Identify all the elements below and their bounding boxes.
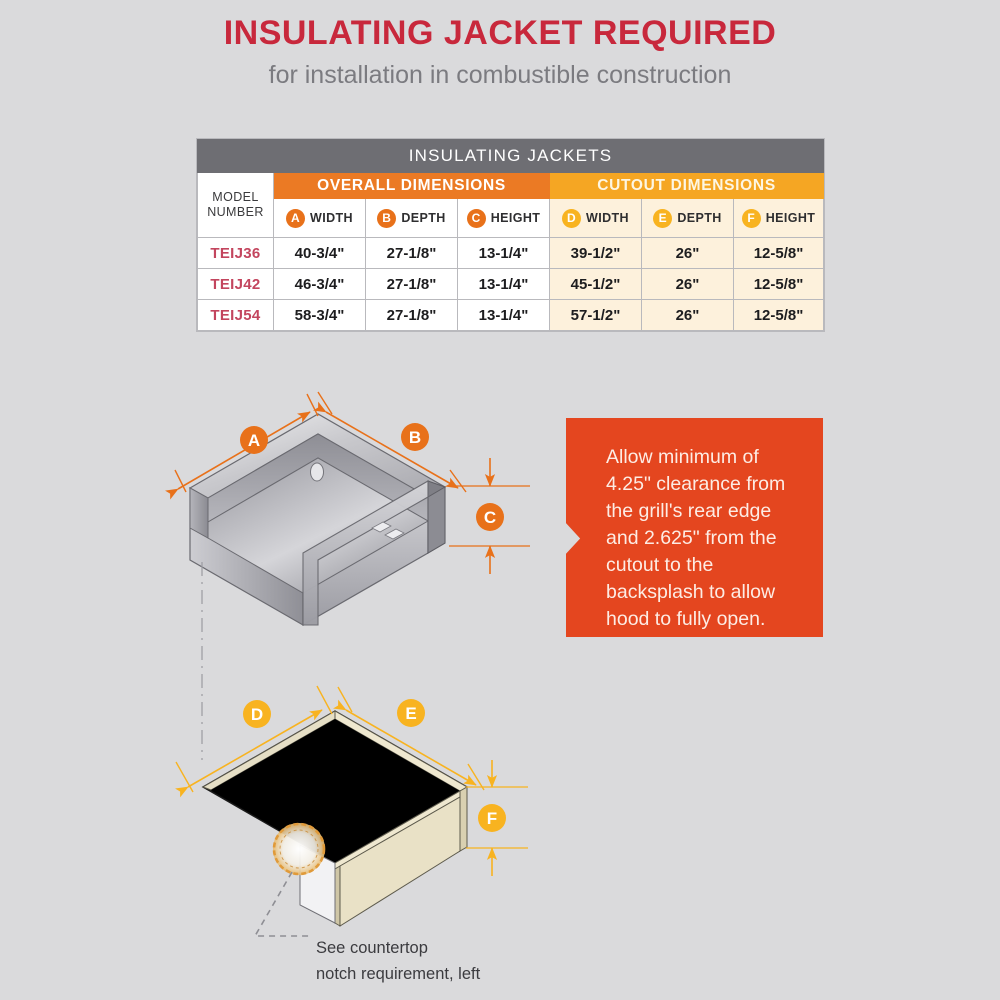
svg-text:F: F — [487, 809, 497, 828]
model-header-line2: NUMBER — [207, 205, 264, 219]
cell-overall-height: 13-1/4" — [458, 300, 550, 331]
column-header-e-depth: E DEPTH — [642, 199, 734, 238]
column-label-d: WIDTH — [586, 211, 629, 225]
svg-text:B: B — [409, 428, 421, 447]
badge-b-icon: B — [377, 209, 396, 228]
cell-overall-width: 58-3/4" — [274, 300, 366, 331]
badge-c-diagram-icon — [476, 503, 504, 531]
overall-dimensions-header: OVERALL DIMENSIONS — [274, 173, 550, 199]
svg-text:E: E — [405, 704, 416, 723]
clearance-callout: Allow minimum of 4.25" clearance from th… — [566, 418, 823, 637]
cutout-dimensions-header: CUTOUT DIMENSIONS — [550, 173, 824, 199]
column-label-a: WIDTH — [310, 211, 353, 225]
svg-text:A: A — [248, 431, 260, 450]
dimension-c: C — [449, 458, 530, 574]
badge-d-diagram-icon — [243, 700, 271, 728]
badge-f-icon: F — [742, 209, 761, 228]
footnote-leader-line — [255, 872, 310, 936]
column-header-f-height: F HEIGHT — [734, 199, 824, 238]
model-number-header: MODEL NUMBER — [198, 173, 274, 238]
cell-overall-depth: 27-1/8" — [366, 300, 458, 331]
column-header-a-width: A WIDTH — [274, 199, 366, 238]
badge-b-diagram-icon — [401, 423, 429, 451]
cell-cutout-width: 57-1/2" — [550, 300, 642, 331]
cell-model: TEIJ54 — [198, 300, 274, 331]
cell-cutout-depth: 26" — [642, 269, 734, 300]
table-caption-row: INSULATING JACKETS — [198, 140, 824, 173]
badge-f-diagram-icon — [478, 804, 506, 832]
badge-a-diagram-icon — [240, 426, 268, 454]
svg-text:D: D — [251, 705, 263, 724]
cell-cutout-width: 45-1/2" — [550, 269, 642, 300]
dimension-b: B — [318, 392, 466, 492]
infographic-page: INSULATING JACKET REQUIRED for installat… — [0, 0, 1000, 1000]
badge-c-icon: C — [467, 209, 486, 228]
column-label-f: HEIGHT — [766, 211, 816, 225]
page-subtitle: for installation in combustible construc… — [0, 58, 1000, 92]
table-subheader-row: A WIDTH B DEPTH C HEIGHT — [198, 199, 824, 238]
countertop-notch-footnote: See countertop notch requirement, left — [316, 935, 480, 987]
cell-cutout-height: 12-5/8" — [734, 269, 824, 300]
control-detail-icon — [372, 522, 404, 539]
table-row: TEIJ36 40-3/4" 27-1/8" 13-1/4" 39-1/2" 2… — [198, 238, 824, 269]
dimension-d: D — [176, 686, 332, 792]
cell-model: TEIJ42 — [198, 269, 274, 300]
cell-cutout-height: 12-5/8" — [734, 238, 824, 269]
model-header-line1: MODEL — [212, 190, 258, 204]
badge-e-icon: E — [653, 209, 672, 228]
cell-model: TEIJ36 — [198, 238, 274, 269]
page-title: INSULATING JACKET REQUIRED — [0, 12, 1000, 54]
cell-overall-height: 13-1/4" — [458, 269, 550, 300]
column-header-d-width: D WIDTH — [550, 199, 642, 238]
cell-cutout-height: 12-5/8" — [734, 300, 824, 331]
cell-cutout-width: 39-1/2" — [550, 238, 642, 269]
cell-overall-depth: 27-1/8" — [366, 238, 458, 269]
table-row: TEIJ54 58-3/4" 27-1/8" 13-1/4" 57-1/2" 2… — [198, 300, 824, 331]
svg-text:C: C — [484, 508, 496, 527]
cell-overall-height: 13-1/4" — [458, 238, 550, 269]
dimension-f: F — [466, 760, 528, 876]
table-group-row: MODEL NUMBER OVERALL DIMENSIONS CUTOUT D… — [198, 173, 824, 199]
column-label-c: HEIGHT — [491, 211, 541, 225]
cell-overall-width: 40-3/4" — [274, 238, 366, 269]
page-heading: INSULATING JACKET REQUIRED for installat… — [0, 12, 1000, 92]
countertop-notch-detail — [273, 823, 325, 875]
badge-e-diagram-icon — [397, 699, 425, 727]
footnote-line-2: notch requirement, left — [316, 961, 480, 987]
cell-cutout-depth: 26" — [642, 300, 734, 331]
badge-d-icon: D — [562, 209, 581, 228]
column-header-b-depth: B DEPTH — [366, 199, 458, 238]
dimension-a: A — [175, 394, 318, 492]
column-label-e: DEPTH — [677, 211, 721, 225]
callout-text: Allow minimum of 4.25" clearance from th… — [606, 444, 805, 633]
dimension-e: E — [338, 687, 484, 790]
cell-cutout-depth: 26" — [642, 238, 734, 269]
column-header-c-height: C HEIGHT — [458, 199, 550, 238]
table-row: TEIJ42 46-3/4" 27-1/8" 13-1/4" 45-1/2" 2… — [198, 269, 824, 300]
jacket-body — [190, 395, 445, 625]
cell-overall-width: 46-3/4" — [274, 269, 366, 300]
cell-overall-depth: 27-1/8" — [366, 269, 458, 300]
column-label-b: DEPTH — [401, 211, 445, 225]
footnote-line-1: See countertop — [316, 935, 480, 961]
badge-a-icon: A — [286, 209, 305, 228]
insulating-jackets-table: INSULATING JACKETS MODEL NUMBER OVERALL … — [197, 139, 824, 331]
table-caption: INSULATING JACKETS — [198, 140, 824, 173]
cutout-body — [203, 711, 467, 926]
